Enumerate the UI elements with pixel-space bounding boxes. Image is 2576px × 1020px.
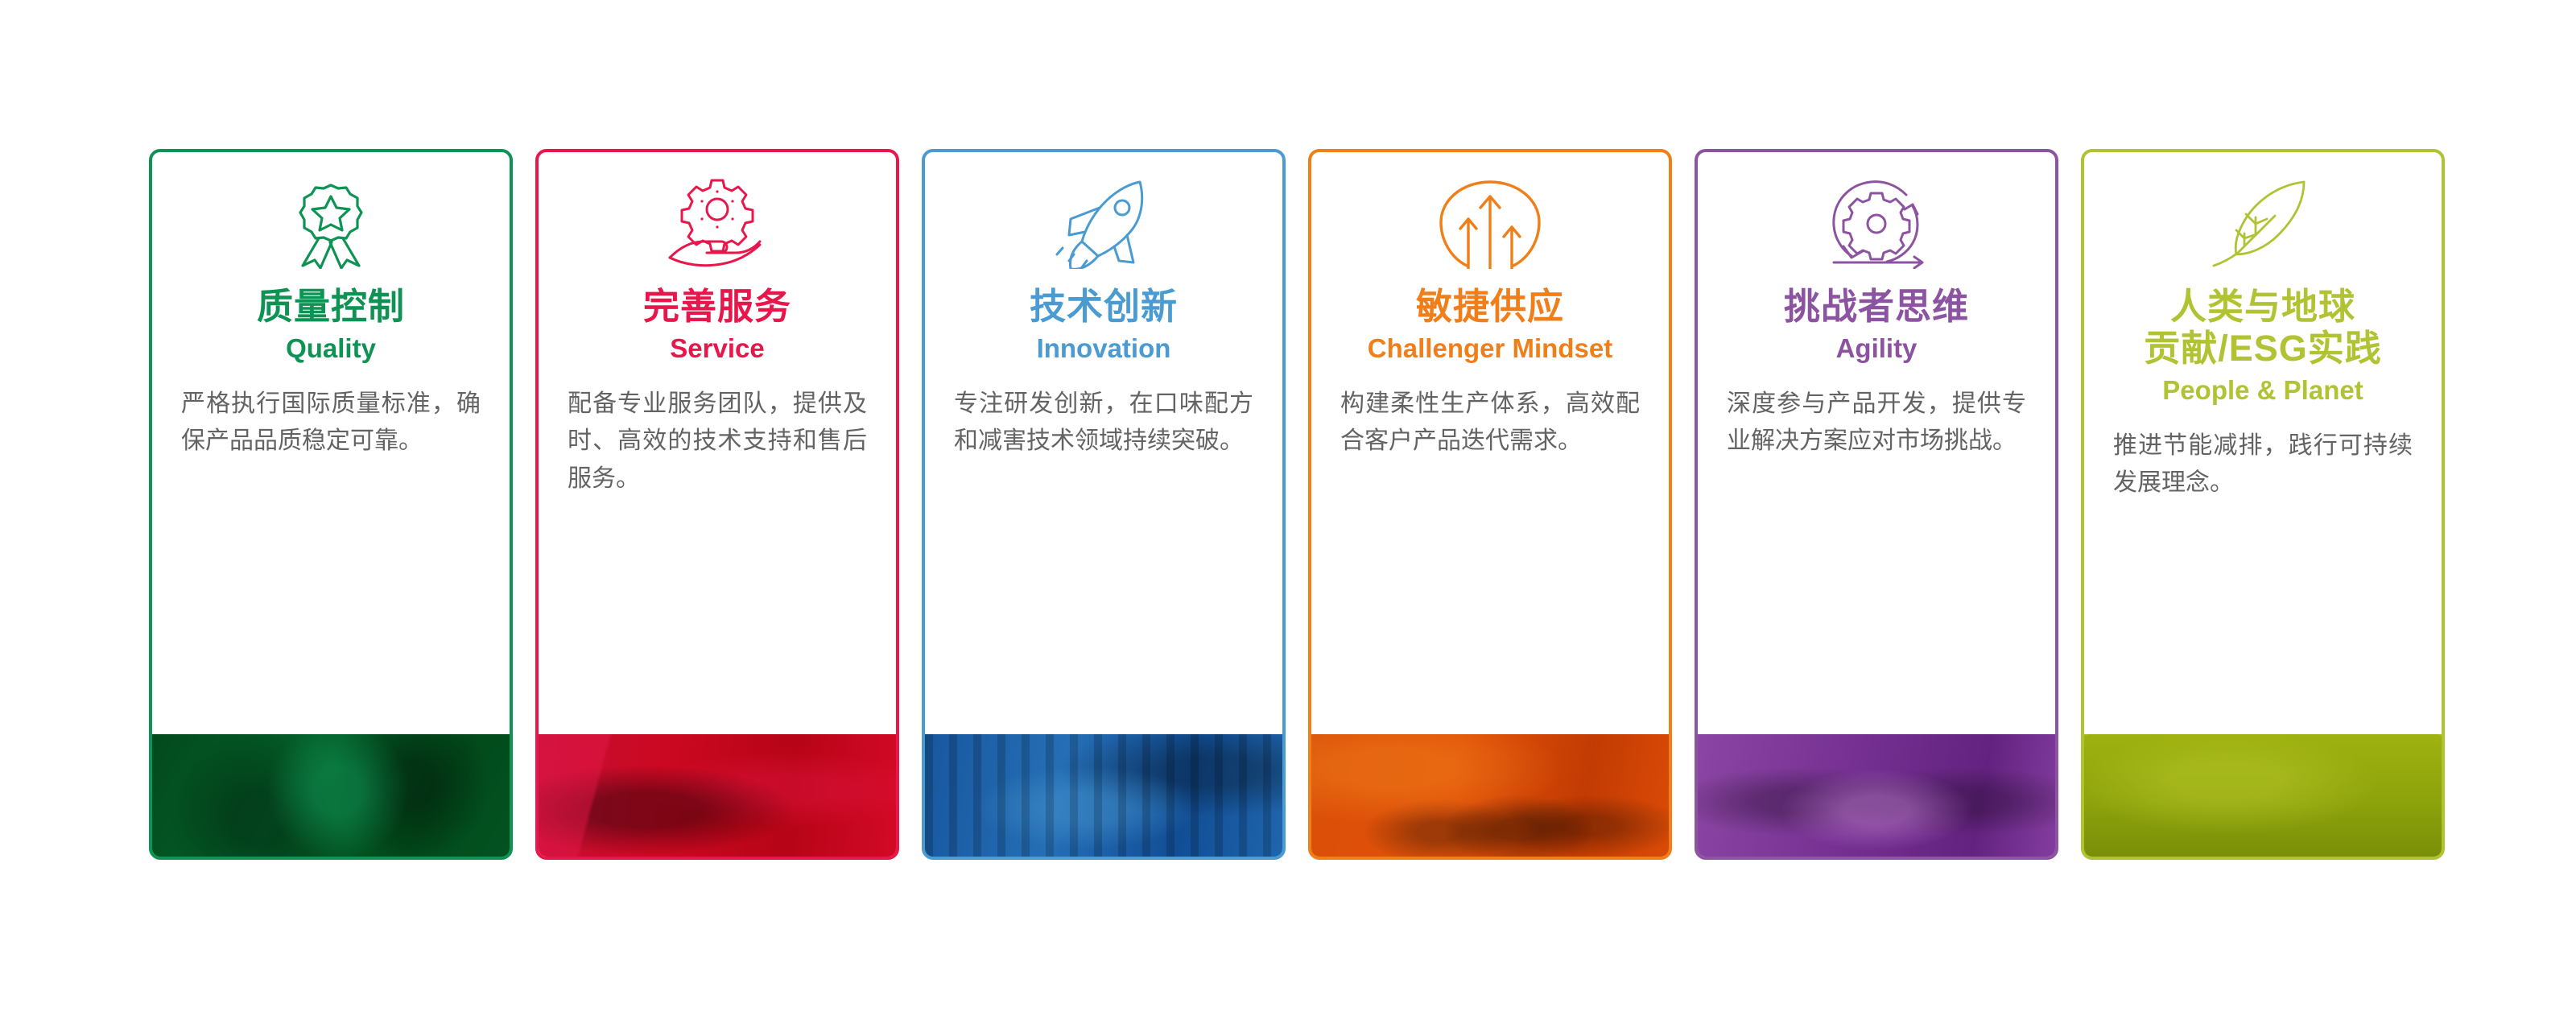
card-title-cn: 敏捷供应 (1316, 286, 1664, 328)
photo-color-tint (539, 734, 896, 857)
card-title-en: Innovation (930, 332, 1278, 365)
card-photo-people-planet (2084, 734, 2442, 857)
card-photo-innovation (925, 734, 1282, 857)
card-titles: 技术创新 Innovation (925, 286, 1282, 365)
card-title-cn: 人类与地球 贡献/ESG实践 (2089, 286, 2437, 370)
photo-color-tint (152, 734, 510, 857)
card-title-en: Service (543, 332, 891, 365)
card-description: 严格执行国际质量标准，确保产品品质稳定可靠。 (152, 386, 510, 460)
gear-cycle-arrows-icon (1812, 173, 1941, 270)
gear-in-hand-icon (653, 173, 782, 270)
card-description: 推进节能减排，践行可持续发展理念。 (2084, 427, 2442, 502)
card-photo-quality (152, 734, 510, 857)
card-title-en: People & Planet (2089, 374, 2437, 407)
feature-card-agile-supply[interactable]: 敏捷供应 Challenger Mindset 构建柔性生产体系，高效配合客户产… (1308, 149, 1672, 860)
feature-card-service[interactable]: 完善服务 Service 配备专业服务团队，提供及时、高效的技术支持和售后服务。 (535, 149, 899, 860)
card-titles: 挑战者思维 Agility (1698, 286, 2055, 365)
photo-color-tint (925, 734, 1282, 857)
feature-cards-stage: 质量控制 Quality 严格执行国际质量标准，确保产品品质稳定可靠。 (0, 0, 2576, 1020)
award-ribbon-icon (266, 173, 395, 270)
feature-cards-row: 质量控制 Quality 严格执行国际质量标准，确保产品品质稳定可靠。 (149, 149, 2445, 860)
card-description: 深度参与产品开发，提供专业解决方案应对市场挑战。 (1698, 386, 2055, 460)
card-description: 专注研发创新，在口味配方和减害技术领域持续突破。 (925, 386, 1282, 460)
card-title-cn: 质量控制 (157, 286, 505, 328)
card-photo-agility (1698, 734, 2055, 857)
card-titles: 敏捷供应 Challenger Mindset (1311, 286, 1669, 365)
card-title-cn: 完善服务 (543, 286, 891, 328)
card-title-en: Challenger Mindset (1316, 332, 1664, 365)
card-photo-agile-supply (1311, 734, 1669, 857)
feature-card-quality[interactable]: 质量控制 Quality 严格执行国际质量标准，确保产品品质稳定可靠。 (149, 149, 513, 860)
feature-card-agility[interactable]: 挑战者思维 Agility 深度参与产品开发，提供专业解决方案应对市场挑战。 (1695, 149, 2058, 860)
card-title-cn: 技术创新 (930, 286, 1278, 328)
card-title-en: Agility (1703, 332, 2050, 365)
photo-color-tint (1698, 734, 2055, 857)
upward-arrows-circle-icon (1426, 173, 1554, 270)
card-title-en: Quality (157, 332, 505, 365)
card-titles: 人类与地球 贡献/ESG实践 People & Planet (2084, 286, 2442, 407)
card-titles: 质量控制 Quality (152, 286, 510, 365)
card-description: 构建柔性生产体系，高效配合客户产品迭代需求。 (1311, 386, 1669, 460)
card-titles: 完善服务 Service (539, 286, 896, 365)
photo-color-tint (2084, 734, 2442, 857)
photo-color-tint (1311, 734, 1669, 857)
card-description: 配备专业服务团队，提供及时、高效的技术支持和售后服务。 (539, 386, 896, 498)
card-title-cn: 挑战者思维 (1703, 286, 2050, 328)
card-photo-service (539, 734, 896, 857)
rocket-icon (1039, 173, 1168, 270)
feature-card-innovation[interactable]: 技术创新 Innovation 专注研发创新，在口味配方和减害技术领域持续突破。 (922, 149, 1286, 860)
leaf-icon (2198, 173, 2327, 270)
feature-card-people-planet[interactable]: 人类与地球 贡献/ESG实践 People & Planet 推进节能减排，践行… (2081, 149, 2445, 860)
